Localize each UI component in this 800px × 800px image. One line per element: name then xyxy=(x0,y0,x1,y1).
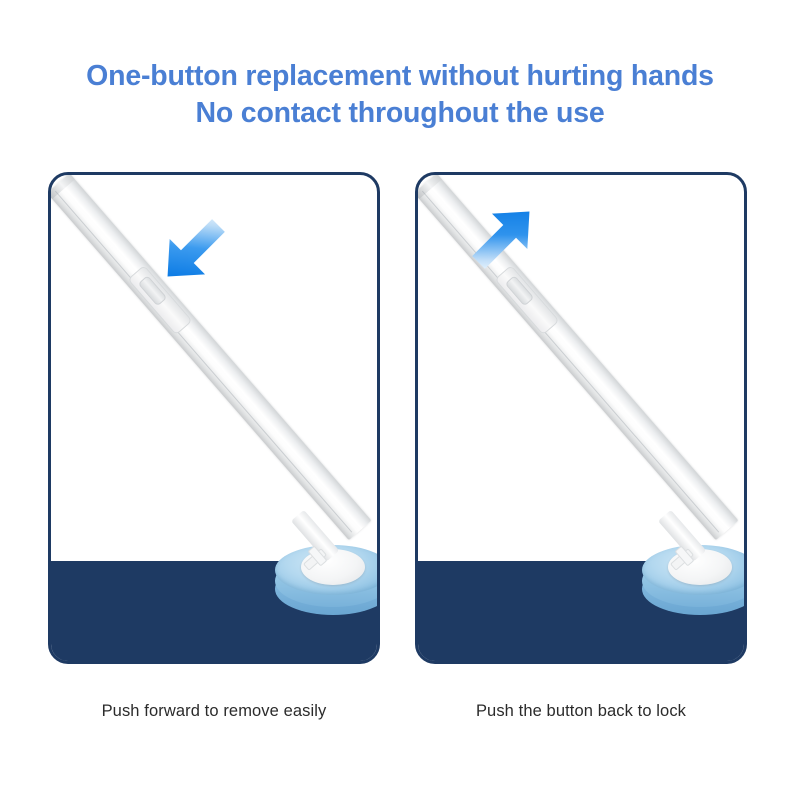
mop-pad-head-left xyxy=(263,519,377,637)
panel-lock-step xyxy=(415,172,747,664)
pole-cap-left xyxy=(51,175,75,199)
panel-remove-step xyxy=(48,172,380,664)
title-line-1: One-button replacement without hurting h… xyxy=(0,58,800,95)
caption-remove-step: Push forward to remove easily xyxy=(48,702,380,721)
caption-lock-step: Push the button back to lock xyxy=(415,702,747,721)
release-button-knob-right xyxy=(505,275,534,306)
arrow-up-left-icon xyxy=(462,195,546,279)
mop-pad-head-right xyxy=(630,519,744,637)
page-title: One-button replacement without hurting h… xyxy=(0,58,800,132)
infographic-canvas: One-button replacement without hurting h… xyxy=(0,0,800,800)
pole-cap-right xyxy=(418,175,442,199)
panel-content-right xyxy=(418,175,744,661)
arrow-down-right-icon xyxy=(151,209,235,293)
title-line-2: No contact throughout the use xyxy=(0,95,800,132)
panel-content-left xyxy=(51,175,377,661)
